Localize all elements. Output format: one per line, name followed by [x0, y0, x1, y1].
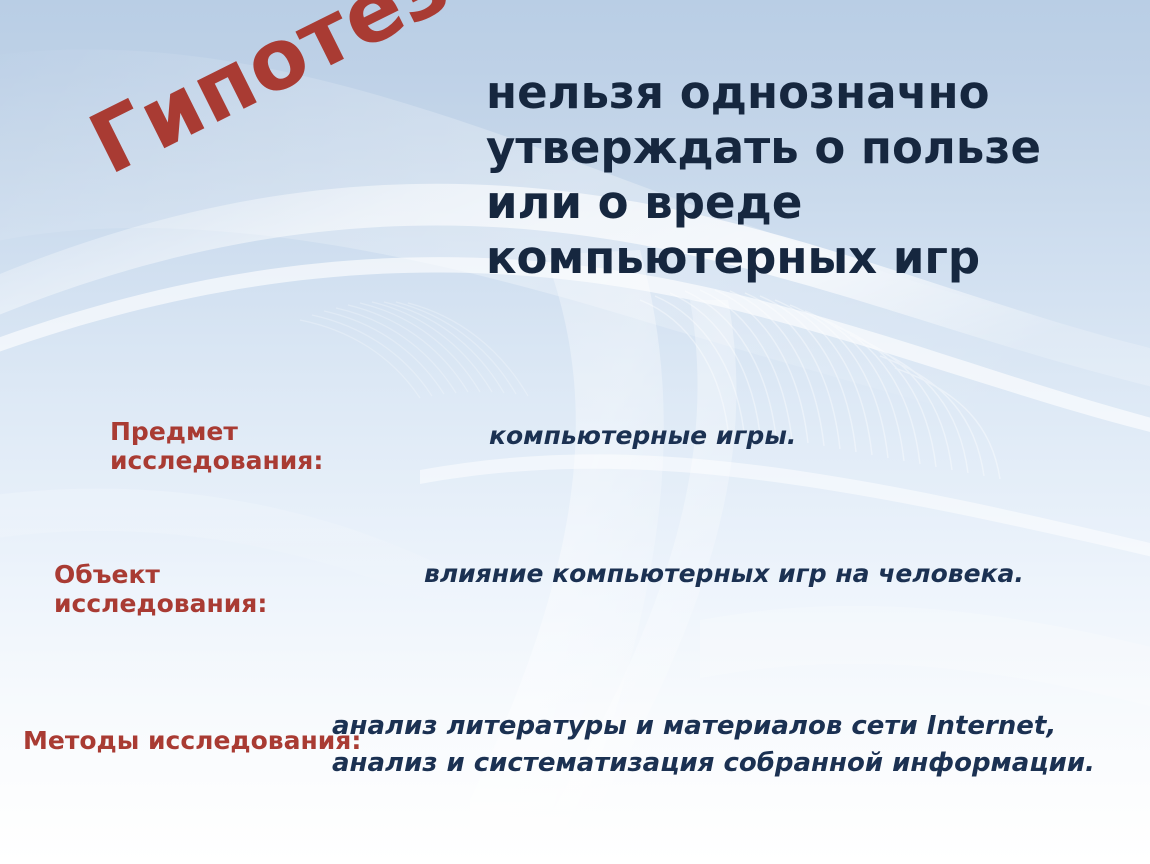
hypothesis-line-3: или о вреде: [486, 176, 1086, 231]
hypothesis-line-1: нельзя однозначно: [486, 66, 1086, 121]
row-subject-value: компьютерные игры.: [489, 420, 909, 453]
hypothesis-line-2: утверждать о пользе: [486, 121, 1086, 176]
row-object-value: влияние компьютерных игр на человека.: [424, 558, 1064, 591]
row-methods-value-line-2: анализ и систематизация собранной информ…: [332, 745, 1122, 782]
hypothesis-line-4: компьютерных игр: [486, 231, 1086, 286]
slide-heading-rotated: Гипотеза :: [78, 0, 527, 187]
row-subject-label: Предмет исследования:: [110, 418, 368, 476]
row-methods-value: анализ литературы и материалов сети Inte…: [332, 708, 1122, 782]
row-methods-value-line-1: анализ литературы и материалов сети Inte…: [332, 708, 1122, 745]
row-object-label: Объект исследования:: [54, 561, 244, 619]
hypothesis-statement: нельзя однозначно утверждать о пользе ил…: [486, 66, 1086, 286]
presentation-slide: Гипотеза : нельзя однозначно утверждать …: [0, 0, 1150, 864]
